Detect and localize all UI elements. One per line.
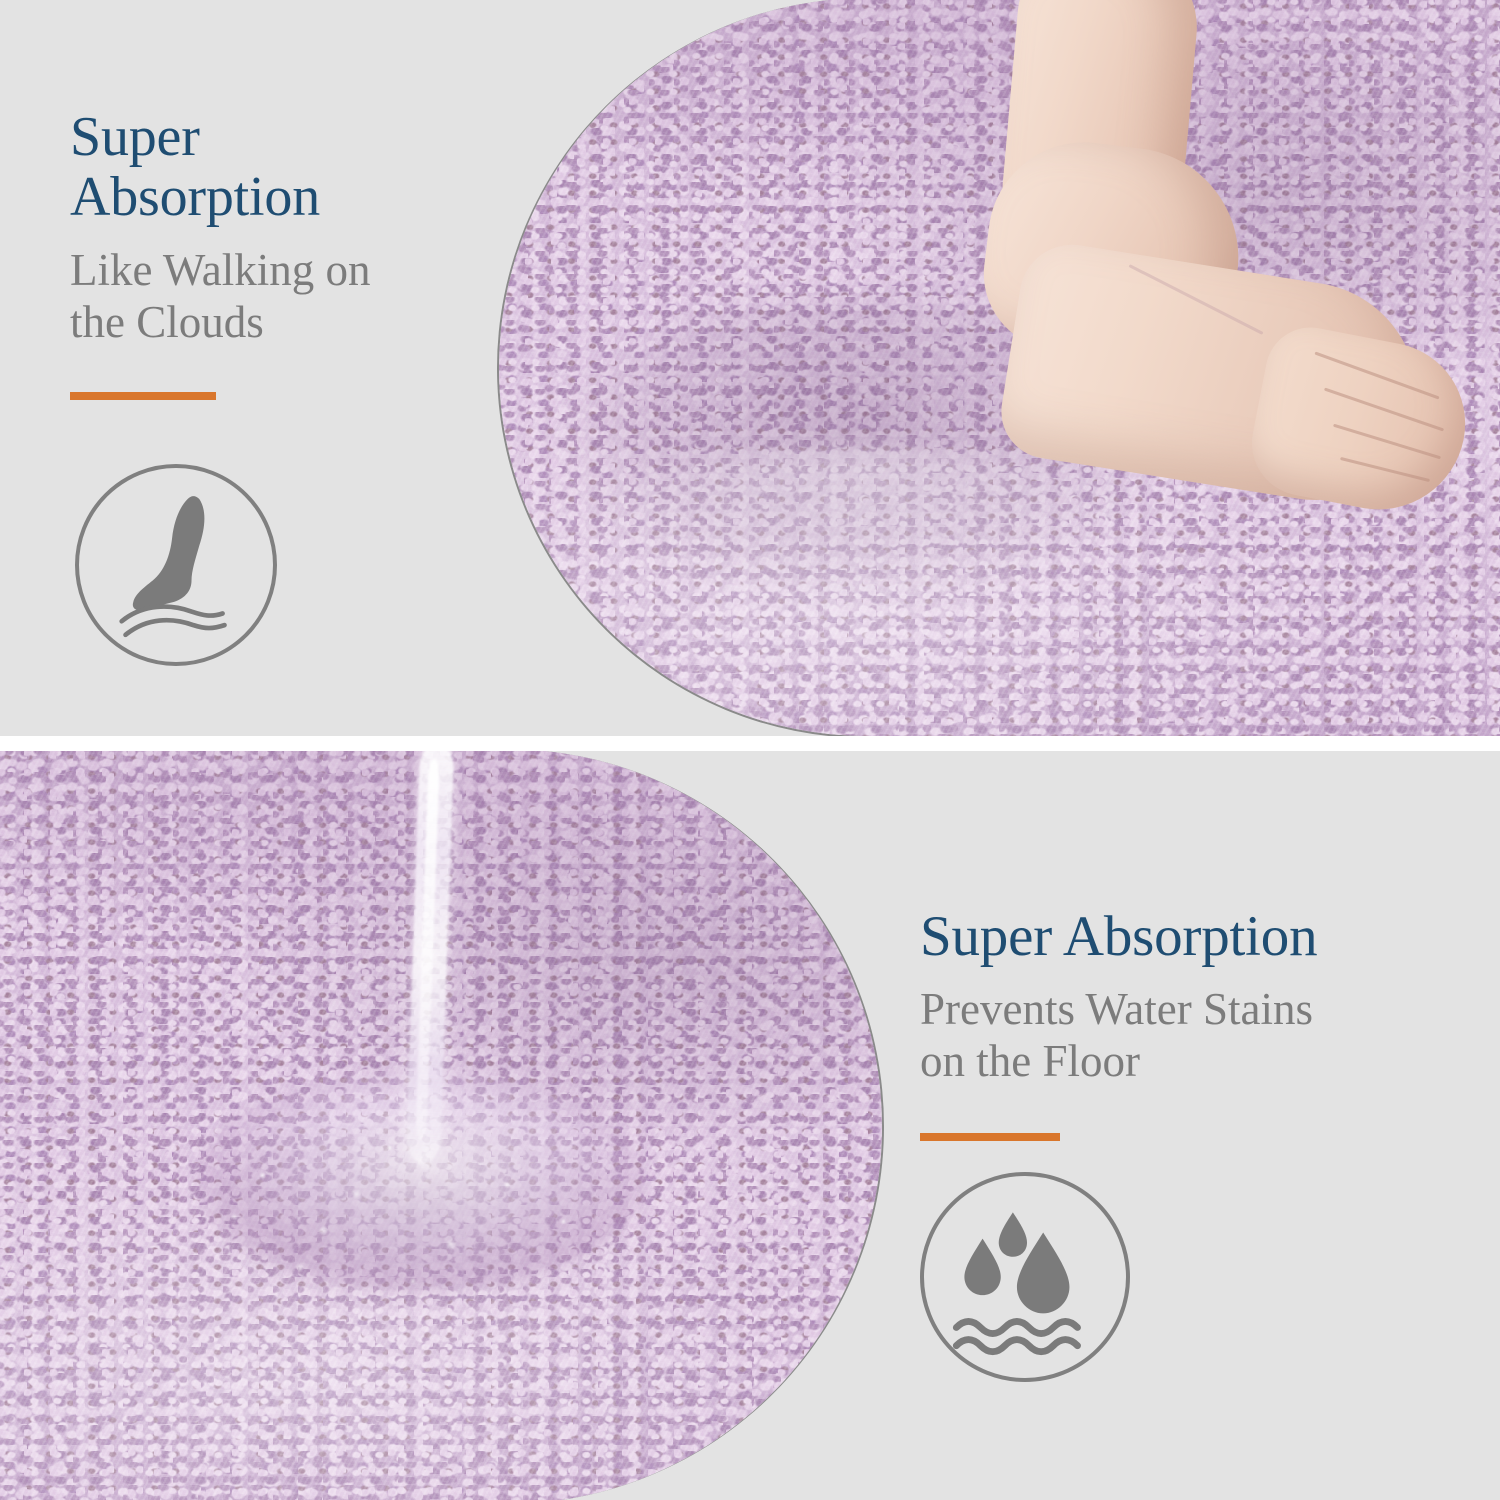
bottom-copy-block: Super Absorption Prevents Water Stains o… — [920, 906, 1480, 1141]
product-feature-infographic: Super Absorption Like Walking on the Clo… — [0, 0, 1500, 1500]
bare-foot — [859, 0, 1479, 568]
water-droplets-absorption-icon — [920, 1172, 1130, 1382]
foot-on-soft-surface-icon — [75, 464, 277, 666]
panel-super-absorption-floor: Super Absorption Prevents Water Stains o… — [0, 751, 1500, 1500]
top-headline: Super Absorption — [70, 108, 490, 228]
top-copy-block: Super Absorption Like Walking on the Clo… — [70, 108, 490, 400]
panel-divider — [0, 736, 1500, 751]
water-poured-on-rug-photo — [0, 751, 884, 1500]
top-subline: Like Walking on the Clouds — [70, 244, 490, 348]
panel-super-absorption-clouds: Super Absorption Like Walking on the Clo… — [0, 0, 1500, 736]
bare-foot-on-plush-rug-photo — [497, 0, 1500, 736]
bottom-accent-rule — [920, 1133, 1060, 1141]
bottom-subline: Prevents Water Stains on the Floor — [920, 983, 1480, 1087]
top-accent-rule — [70, 392, 216, 400]
bottom-headline: Super Absorption — [920, 906, 1480, 967]
